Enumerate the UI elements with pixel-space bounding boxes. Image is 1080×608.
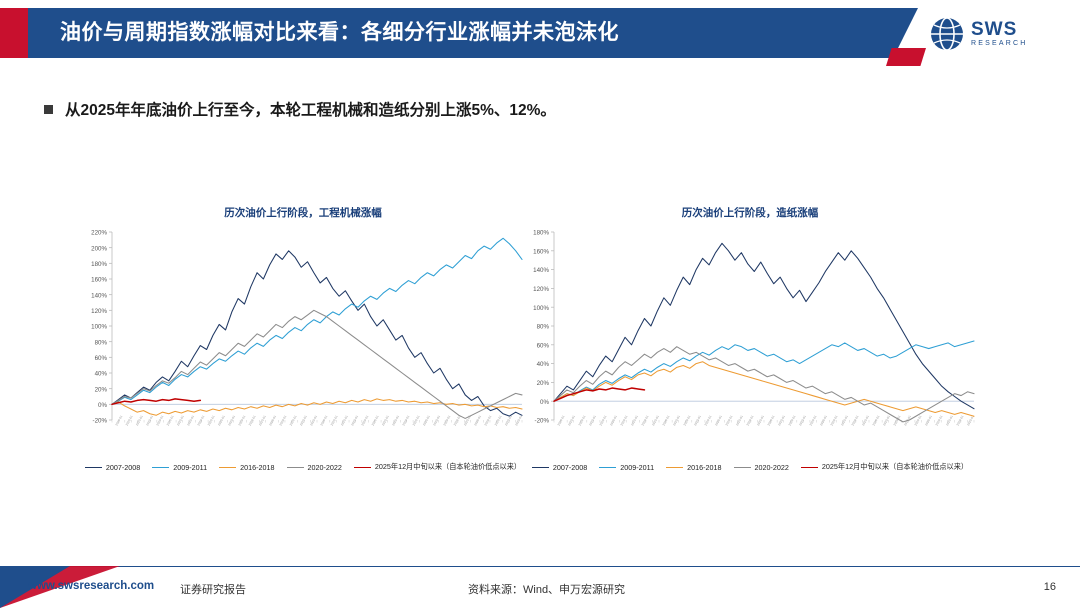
chart-panel-right: 历次油价上行阶段，造纸涨幅 -20%0%20%40%60%80%100%120%… <box>520 205 980 505</box>
legend-swatch <box>801 467 818 468</box>
legend-label: 2007-2008 <box>106 463 140 472</box>
series-line <box>112 310 522 418</box>
svg-text:2020-01: 2020-01 <box>809 414 818 426</box>
chart-plot-right: -20%0%20%40%60%80%100%120%140%160%180%20… <box>520 224 980 456</box>
svg-text:2020-01: 2020-01 <box>227 414 236 426</box>
svg-text:2020-01: 2020-01 <box>278 414 287 426</box>
legend-swatch <box>666 467 683 468</box>
svg-text:2020-01: 2020-01 <box>567 414 576 426</box>
svg-text:2020-01: 2020-01 <box>798 414 807 426</box>
svg-text:2020-01: 2020-01 <box>299 414 308 426</box>
chart-legend-left: 2007-20082009-20112016-20182020-20222025… <box>78 462 528 472</box>
svg-text:2020-01: 2020-01 <box>135 414 144 426</box>
svg-text:2020-01: 2020-01 <box>914 414 923 426</box>
svg-text:2020-01: 2020-01 <box>819 414 828 426</box>
svg-text:2020-01: 2020-01 <box>237 414 246 426</box>
svg-text:2020-01: 2020-01 <box>483 414 492 426</box>
svg-text:2020-01: 2020-01 <box>756 414 765 426</box>
legend-label: 2007-2008 <box>553 463 587 472</box>
svg-text:2020-01: 2020-01 <box>956 414 965 426</box>
svg-text:2020-01: 2020-01 <box>289 414 298 426</box>
legend-label: 2016-2018 <box>240 463 274 472</box>
svg-text:2020-01: 2020-01 <box>735 414 744 426</box>
svg-text:40%: 40% <box>95 371 108 378</box>
legend-item: 2020-2022 <box>734 463 789 472</box>
legend-label: 2016-2018 <box>687 463 721 472</box>
svg-text:200%: 200% <box>91 245 107 252</box>
svg-text:2020-01: 2020-01 <box>473 414 482 426</box>
svg-text:2020-01: 2020-01 <box>945 414 954 426</box>
svg-text:2020-01: 2020-01 <box>714 414 723 426</box>
legend-swatch <box>734 467 751 468</box>
legend-swatch <box>219 467 236 468</box>
bullet-point: 从2025年年底油价上行至今，本轮工程机械和造纸分别上涨5%、12%。 <box>44 98 556 120</box>
series-line <box>112 399 522 415</box>
legend-label: 2025年12月中旬以来（自本轮油价低点以来） <box>822 462 968 472</box>
legend-swatch <box>599 467 616 468</box>
chart-title-right: 历次油价上行阶段，造纸涨幅 <box>520 205 980 220</box>
svg-text:2020-01: 2020-01 <box>788 414 797 426</box>
svg-text:180%: 180% <box>533 230 549 237</box>
svg-text:2020-01: 2020-01 <box>319 414 328 426</box>
svg-text:2020-01: 2020-01 <box>777 414 786 426</box>
series-line <box>112 399 200 404</box>
logo-text: SWS <box>971 20 1028 39</box>
svg-text:2020-01: 2020-01 <box>662 414 671 426</box>
svg-text:-20%: -20% <box>535 418 550 425</box>
legend-label: 2009-2011 <box>620 463 654 472</box>
svg-text:2020-01: 2020-01 <box>620 414 629 426</box>
svg-text:2020-01: 2020-01 <box>672 414 681 426</box>
svg-text:2020-01: 2020-01 <box>330 414 339 426</box>
header-red-accent-right <box>886 48 926 66</box>
svg-text:140%: 140% <box>91 292 107 299</box>
svg-text:80%: 80% <box>95 339 108 346</box>
svg-text:140%: 140% <box>533 267 549 274</box>
svg-text:2020-01: 2020-01 <box>924 414 933 426</box>
page-title: 油价与周期指数涨幅对比来看：各细分行业涨幅并未泡沫化 <box>60 8 619 58</box>
legend-item: 2025年12月中旬以来（自本轮油价低点以来） <box>354 462 521 472</box>
svg-text:2020-01: 2020-01 <box>630 414 639 426</box>
chart-svg: -20%0%20%40%60%80%100%120%140%160%180%20… <box>520 224 980 456</box>
svg-text:2020-01: 2020-01 <box>391 414 400 426</box>
svg-text:2020-01: 2020-01 <box>641 414 650 426</box>
svg-text:2020-01: 2020-01 <box>851 414 860 426</box>
svg-text:2020-01: 2020-01 <box>830 414 839 426</box>
svg-text:2020-01: 2020-01 <box>861 414 870 426</box>
svg-text:2020-01: 2020-01 <box>166 414 175 426</box>
svg-text:2020-01: 2020-01 <box>935 414 944 426</box>
chart-plot-left: -20%0%20%40%60%80%100%120%140%160%180%20… <box>78 224 528 456</box>
svg-text:2020-01: 2020-01 <box>442 414 451 426</box>
svg-text:100%: 100% <box>91 324 107 331</box>
svg-text:2020-01: 2020-01 <box>114 414 123 426</box>
svg-text:2020-01: 2020-01 <box>176 414 185 426</box>
chart-svg: -20%0%20%40%60%80%100%120%140%160%180%20… <box>78 224 528 456</box>
footer-divider <box>0 566 1080 567</box>
svg-text:2020-01: 2020-01 <box>725 414 734 426</box>
svg-text:0%: 0% <box>540 399 549 406</box>
bullet-square-icon <box>44 105 53 114</box>
legend-swatch <box>85 467 102 468</box>
legend-item: 2016-2018 <box>219 463 274 472</box>
footer-url[interactable]: www.swsresearch.com <box>28 580 154 592</box>
legend-item: 2009-2011 <box>152 463 207 472</box>
legend-label: 2025年12月中旬以来（自本轮油价低点以来） <box>375 462 521 472</box>
svg-text:2020-01: 2020-01 <box>340 414 349 426</box>
footer-label: 证券研究报告 <box>180 581 246 597</box>
svg-text:2020-01: 2020-01 <box>882 414 891 426</box>
svg-text:0%: 0% <box>98 402 107 409</box>
legend-swatch <box>287 467 304 468</box>
bullet-text: 从2025年年底油价上行至今，本轮工程机械和造纸分别上涨5%、12%。 <box>65 98 556 120</box>
legend-label: 2020-2022 <box>755 463 789 472</box>
svg-text:40%: 40% <box>537 361 550 368</box>
legend-label: 2020-2022 <box>308 463 342 472</box>
legend-item: 2007-2008 <box>85 463 140 472</box>
svg-text:2020-01: 2020-01 <box>350 414 359 426</box>
series-line <box>554 243 974 408</box>
svg-text:2020-01: 2020-01 <box>557 414 566 426</box>
series-line <box>554 347 974 422</box>
svg-text:2020-01: 2020-01 <box>683 414 692 426</box>
series-line <box>112 251 522 416</box>
svg-text:20%: 20% <box>537 380 550 387</box>
svg-text:2020-01: 2020-01 <box>125 414 134 426</box>
svg-text:2020-01: 2020-01 <box>381 414 390 426</box>
svg-text:80%: 80% <box>537 324 550 331</box>
svg-text:2020-01: 2020-01 <box>186 414 195 426</box>
svg-text:2020-01: 2020-01 <box>196 414 205 426</box>
svg-text:2020-01: 2020-01 <box>268 414 277 426</box>
svg-text:2020-01: 2020-01 <box>609 414 618 426</box>
svg-text:160%: 160% <box>533 248 549 255</box>
svg-text:60%: 60% <box>95 355 108 362</box>
legend-item: 2016-2018 <box>666 463 721 472</box>
legend-label: 2009-2011 <box>173 463 207 472</box>
series-line <box>554 341 974 401</box>
svg-text:20%: 20% <box>95 386 108 393</box>
svg-text:2020-01: 2020-01 <box>746 414 755 426</box>
svg-text:-20%: -20% <box>93 418 108 425</box>
svg-text:220%: 220% <box>91 230 107 237</box>
svg-text:100%: 100% <box>533 305 549 312</box>
svg-text:2020-01: 2020-01 <box>248 414 257 426</box>
svg-text:180%: 180% <box>91 261 107 268</box>
svg-text:120%: 120% <box>91 308 107 315</box>
svg-text:2020-01: 2020-01 <box>145 414 154 426</box>
logo-globe-icon <box>930 17 964 51</box>
legend-swatch <box>532 467 549 468</box>
svg-text:2020-01: 2020-01 <box>704 414 713 426</box>
page-header: 油价与周期指数涨幅对比来看：各细分行业涨幅并未泡沫化 SWS RESEARCH <box>0 0 1080 64</box>
svg-text:2020-01: 2020-01 <box>872 414 881 426</box>
footer-source: 资料来源：Wind、申万宏源研究 <box>468 581 625 597</box>
svg-text:2020-01: 2020-01 <box>693 414 702 426</box>
chart-legend-right: 2007-20082009-20112016-20182020-20222025… <box>520 462 980 472</box>
svg-text:60%: 60% <box>537 342 550 349</box>
sws-logo: SWS RESEARCH <box>930 14 1058 54</box>
legend-swatch <box>354 467 371 468</box>
svg-text:2020-01: 2020-01 <box>217 414 226 426</box>
svg-text:2020-01: 2020-01 <box>578 414 587 426</box>
svg-text:120%: 120% <box>533 286 549 293</box>
svg-text:2020-01: 2020-01 <box>651 414 660 426</box>
legend-item: 2020-2022 <box>287 463 342 472</box>
svg-text:2020-01: 2020-01 <box>599 414 608 426</box>
svg-text:2020-01: 2020-01 <box>840 414 849 426</box>
legend-swatch <box>152 467 169 468</box>
svg-text:2020-01: 2020-01 <box>371 414 380 426</box>
footer-page-number: 16 <box>1044 581 1056 593</box>
svg-text:2020-01: 2020-01 <box>494 414 503 426</box>
svg-text:2020-01: 2020-01 <box>588 414 597 426</box>
logo-subtext: RESEARCH <box>971 39 1028 49</box>
svg-text:2020-01: 2020-01 <box>767 414 776 426</box>
legend-item: 2025年12月中旬以来（自本轮油价低点以来） <box>801 462 968 472</box>
chart-panel-left: 历次油价上行阶段，工程机械涨幅 -20%0%20%40%60%80%100%12… <box>78 205 528 505</box>
legend-item: 2007-2008 <box>532 463 587 472</box>
svg-text:2020-01: 2020-01 <box>422 414 431 426</box>
svg-text:2020-01: 2020-01 <box>432 414 441 426</box>
chart-title-left: 历次油价上行阶段，工程机械涨幅 <box>78 205 528 220</box>
svg-text:2020-01: 2020-01 <box>401 414 410 426</box>
legend-item: 2009-2011 <box>599 463 654 472</box>
svg-text:160%: 160% <box>91 277 107 284</box>
